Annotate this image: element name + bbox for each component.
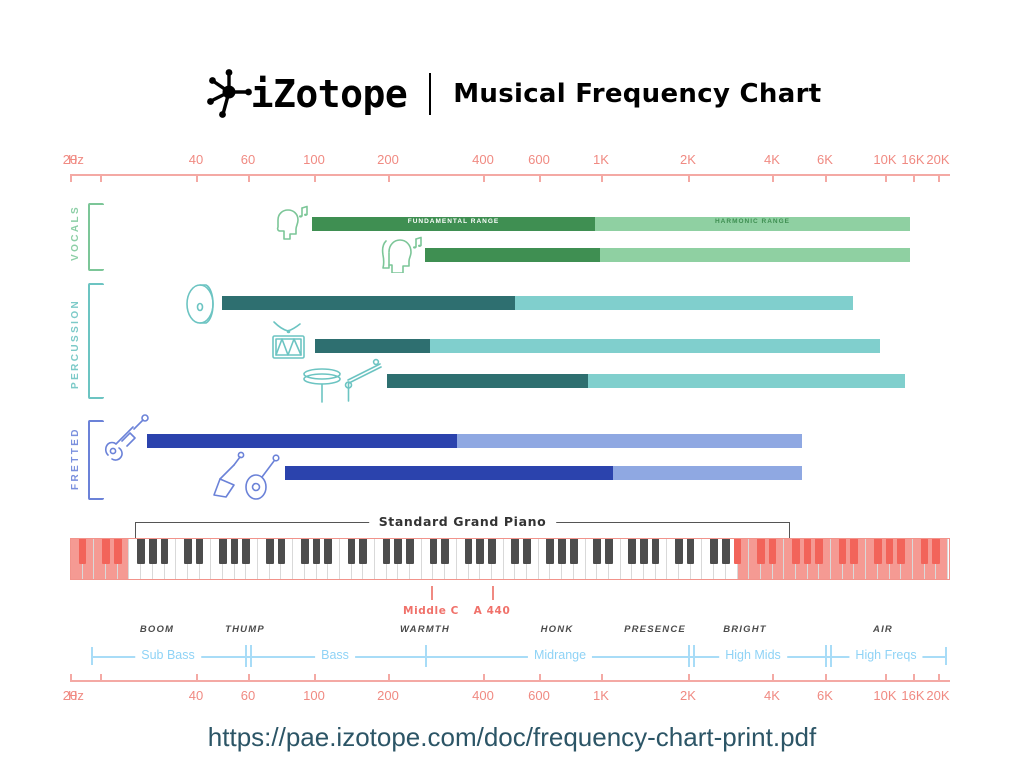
scale-tick xyxy=(885,674,887,682)
band-descriptor-label: BOOM xyxy=(140,624,174,635)
scale-tick xyxy=(388,674,390,682)
band-range-label: High Freqs xyxy=(849,648,922,662)
band-divider xyxy=(688,645,690,667)
scale-tick xyxy=(913,674,915,682)
band-divider xyxy=(245,645,247,667)
scale-tick xyxy=(772,674,774,682)
band-divider xyxy=(830,645,832,667)
scale-tick xyxy=(825,674,827,682)
scale-tick-label: 20K xyxy=(926,688,949,703)
scale-tick xyxy=(196,674,198,682)
band-range-label: Sub Bass xyxy=(135,648,201,662)
scale-tick-label: 4K xyxy=(764,688,780,703)
band-range-label: Bass xyxy=(315,648,355,662)
band-divider xyxy=(425,645,427,667)
scale-tick-label: 400 xyxy=(472,688,494,703)
scale-tick xyxy=(100,674,102,682)
scale-tick xyxy=(70,674,72,682)
scale-tick-label: 2K xyxy=(680,688,696,703)
band-descriptor-label: THUMP xyxy=(225,624,265,635)
scale-tick-label: 6K xyxy=(817,688,833,703)
scale-tick xyxy=(539,674,541,682)
scale-tick-label: 100 xyxy=(303,688,325,703)
scale-tick-label: 600 xyxy=(528,688,550,703)
scale-tick-label: 10K xyxy=(873,688,896,703)
scale-tick xyxy=(483,674,485,682)
scale-tick-label: 16K xyxy=(901,688,924,703)
scale-tick-label: 1K xyxy=(593,688,609,703)
band-descriptor-label: BRIGHT xyxy=(723,624,767,635)
band-descriptor-label: AIR xyxy=(873,624,893,635)
band-range-label: High Mids xyxy=(719,648,787,662)
band-descriptor-label: HONK xyxy=(541,624,574,635)
band-range-label: Midrange xyxy=(528,648,592,662)
scale-tick xyxy=(688,674,690,682)
scale-tick-label: 200 xyxy=(377,688,399,703)
source-url[interactable]: https://pae.izotope.com/doc/frequency-ch… xyxy=(0,722,1024,753)
band-descriptor-label: WARMTH xyxy=(400,624,450,635)
frequency-scale-bottom: Hz2040601002004006001K2K4K6K10K16K20K xyxy=(60,676,960,706)
band-divider xyxy=(825,645,827,667)
frequency-band-legend: BOOMTHUMPWARMTHHONKPRESENCEBRIGHTAIRSub … xyxy=(0,0,1024,768)
band-axis-line xyxy=(91,656,945,658)
band-descriptor-label: PRESENCE xyxy=(624,624,686,635)
scale-tick xyxy=(601,674,603,682)
band-divider xyxy=(250,645,252,667)
scale-tick xyxy=(248,674,250,682)
scale-tick-label: 20 xyxy=(63,688,77,703)
band-axis-endcap xyxy=(945,647,947,665)
scale-baseline xyxy=(70,680,950,682)
band-divider xyxy=(693,645,695,667)
scale-tick-label: 40 xyxy=(189,688,203,703)
band-axis-endcap xyxy=(91,647,93,665)
scale-tick xyxy=(938,674,940,682)
scale-tick xyxy=(314,674,316,682)
scale-tick-label: 60 xyxy=(241,688,255,703)
